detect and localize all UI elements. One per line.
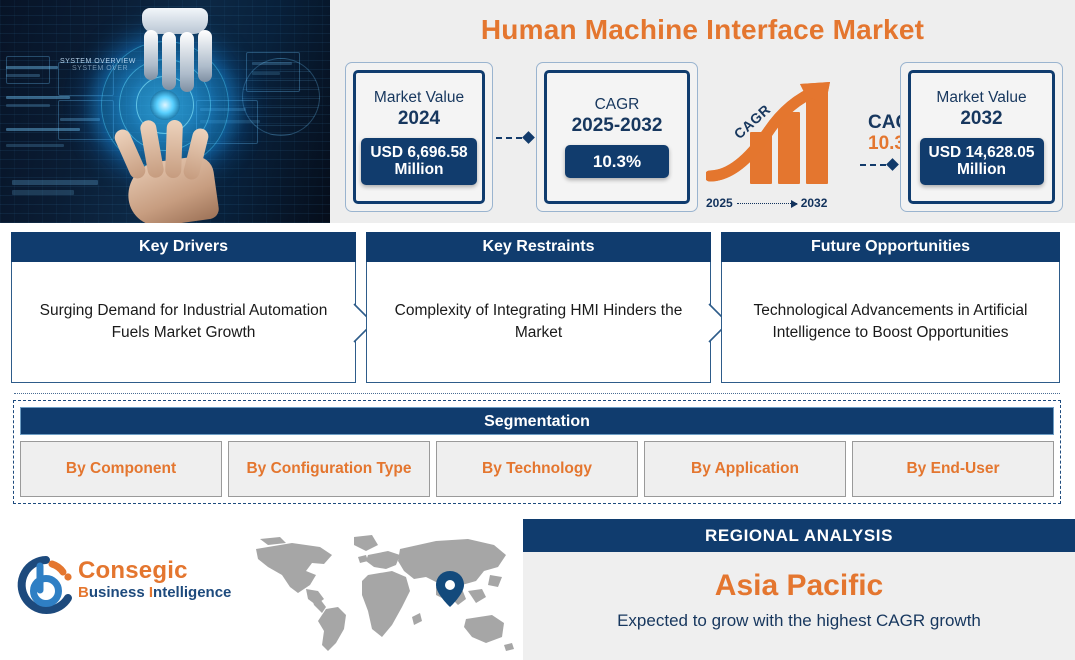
segment-by-component[interactable]: By Component — [20, 441, 222, 497]
regional-analysis-section: REGIONAL ANALYSIS Asia Pacific Expected … — [523, 519, 1075, 660]
panel-key-restraints-body: Complexity of Integrating HMI Hinders th… — [366, 262, 711, 383]
cagr-growth-chart-icon: CAGR 2025 2032 — [706, 80, 881, 210]
segment-by-technology[interactable]: By Technology — [436, 441, 638, 497]
metric-card-market-value-2032: Market Value 2032 USD 14,628.05 Million — [900, 62, 1063, 212]
cagr-end-year: 2032 — [801, 196, 828, 210]
tagline-b: B — [78, 584, 89, 601]
segment-by-configuration-type[interactable]: By Configuration Type — [228, 441, 430, 497]
segmentation-section: Segmentation By Component By Configurati… — [13, 400, 1061, 504]
metric-card-cagr-period: CAGR 2025-2032 10.3% — [536, 62, 698, 212]
connector-line — [860, 164, 886, 166]
regional-analysis-heading: REGIONAL ANALYSIS — [523, 519, 1075, 552]
consegic-mark-icon — [16, 554, 76, 616]
cagr-start-year: 2025 — [706, 196, 733, 210]
mv2024-label: Market Value — [374, 89, 464, 107]
mv2032-year: 2032 — [960, 108, 1002, 130]
hero-system-overview-text: SYSTEM OVERVIEW SYSTEM OVER — [60, 58, 136, 72]
metric-card-market-value-2024: Market Value 2024 USD 6,696.58 Million — [345, 62, 493, 212]
tagline-usiness: usiness — [89, 584, 149, 601]
section-divider — [14, 393, 1060, 394]
consegic-tagline: Business Intelligence — [78, 584, 231, 602]
mv2024-year: 2024 — [398, 108, 440, 130]
regional-analysis-region: Asia Pacific — [523, 569, 1075, 604]
world-map-graphic — [246, 533, 518, 655]
mv2024-value: USD 6,696.58 Million — [361, 138, 476, 185]
hero-overlay-line-1: SYSTEM OVERVIEW — [60, 58, 136, 65]
panel-future-opportunities: Future Opportunities Technological Advan… — [721, 232, 1060, 383]
hero-image-robot-human-hand: SYSTEM OVERVIEW SYSTEM OVER — [0, 0, 330, 223]
consegic-logo[interactable]: Consegic Business Intelligence — [16, 548, 244, 624]
panel-key-drivers-body: Surging Demand for Industrial Automation… — [11, 262, 356, 383]
world-map-continents — [256, 535, 514, 651]
cagr-axis-years: 2025 2032 — [706, 196, 881, 210]
panel-key-drivers-heading: Key Drivers — [11, 232, 356, 262]
cagr-value: 10.3% — [565, 145, 669, 178]
panel-key-restraints: Key Restraints Complexity of Integrating… — [366, 232, 711, 383]
hero-overlay-line-2: SYSTEM OVER — [72, 65, 136, 72]
connector-diamond — [522, 131, 535, 144]
panel-key-restraints-text: Complexity of Integrating HMI Hinders th… — [383, 300, 694, 344]
human-hand-graphic — [112, 122, 242, 223]
connector-dashed-2 — [860, 160, 897, 169]
connector-line — [496, 137, 522, 139]
segmentation-items: By Component By Configuration Type By Te… — [20, 441, 1054, 497]
segmentation-heading: Segmentation — [20, 407, 1054, 435]
cagr-axis-arrow-icon — [737, 203, 797, 204]
cagr-years: 2025-2032 — [572, 115, 663, 137]
consegic-logo-text: Consegic Business Intelligence — [78, 558, 231, 602]
connector-dashed-1 — [496, 133, 533, 142]
cagr-label: CAGR — [595, 96, 640, 114]
segment-by-end-user[interactable]: By End-User — [852, 441, 1054, 497]
consegic-brand-name: Consegic — [78, 558, 231, 584]
mv2032-label: Market Value — [936, 89, 1026, 107]
panel-key-drivers-text: Surging Demand for Industrial Automation… — [28, 300, 339, 344]
panel-key-restraints-heading: Key Restraints — [366, 232, 711, 262]
robot-hand-graphic — [118, 8, 230, 100]
panel-future-opportunities-heading: Future Opportunities — [721, 232, 1060, 262]
page-title: Human Machine Interface Market — [330, 14, 1075, 46]
segment-by-application[interactable]: By Application — [644, 441, 846, 497]
tagline-ntelligence: ntelligence — [153, 584, 231, 601]
hero-globe-graphic — [242, 58, 320, 136]
panel-key-drivers: Key Drivers Surging Demand for Industria… — [11, 232, 356, 383]
panel-future-opportunities-body: Technological Advancements in Artificial… — [721, 262, 1060, 383]
connector-diamond — [886, 158, 899, 171]
cagr-arrow-overlay-svg — [706, 80, 881, 188]
regional-analysis-subtitle: Expected to grow with the highest CAGR g… — [523, 611, 1075, 631]
top-summary-strip: SYSTEM OVERVIEW SYSTEM OVER Human Machin… — [0, 0, 1075, 223]
panel-future-opportunities-text: Technological Advancements in Artificial… — [738, 300, 1043, 344]
mv2032-value: USD 14,628.05 Million — [920, 138, 1044, 185]
